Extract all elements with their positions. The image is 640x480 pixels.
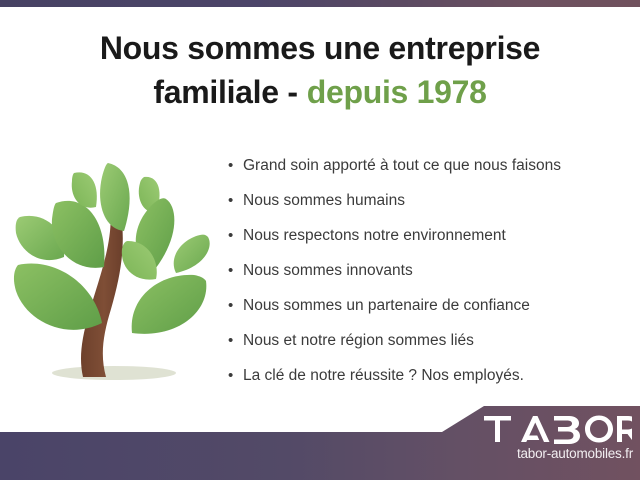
benefits-list: • Grand soin apporté à tout ce que nous … [228, 148, 628, 393]
page-title-line-1: Nous sommes une entreprise [40, 26, 600, 70]
family-tree-illustration [10, 145, 220, 390]
bullet-marker-icon: • [228, 148, 243, 183]
list-item-label: La clé de notre réussite ? Nos employés. [243, 358, 524, 393]
list-item-label: Grand soin apporté à tout ce que nous fa… [243, 148, 561, 183]
tree-shadow [52, 366, 176, 380]
slide-canvas: Nous sommes une entreprise familiale -de… [0, 0, 640, 480]
list-item: • Nous sommes humains [228, 183, 628, 218]
bullet-marker-icon: • [228, 358, 243, 393]
bullet-marker-icon: • [228, 218, 243, 253]
bullet-marker-icon: • [228, 183, 243, 218]
logo-tagline: tabor-automobiles.fr [484, 446, 634, 461]
list-item-label: Nous sommes innovants [243, 253, 413, 288]
tree-leaf [174, 235, 210, 273]
top-accent-bar [0, 0, 640, 7]
list-item: • Nous sommes un partenaire de confiance [228, 288, 628, 323]
footer-band: tabor-automobiles.fr [0, 400, 640, 480]
bullet-marker-icon: • [228, 253, 243, 288]
tree-leaf [14, 264, 102, 330]
list-item: • Nous respectons notre environnement [228, 218, 628, 253]
list-item-label: Nous sommes humains [243, 183, 405, 218]
list-item: • Nous et notre région sommes liés [228, 323, 628, 358]
page-title-line-2: familiale -depuis 1978 [40, 70, 600, 114]
page-title-accent: depuis 1978 [307, 74, 487, 110]
list-item: • Nous sommes innovants [228, 253, 628, 288]
tree-leaf [132, 275, 207, 334]
bullet-marker-icon: • [228, 288, 243, 323]
page-title-line-2-prefix: familiale - [153, 74, 297, 110]
list-item-label: Nous sommes un partenaire de confiance [243, 288, 530, 323]
bullet-marker-icon: • [228, 323, 243, 358]
company-logo[interactable]: tabor-automobiles.fr [484, 414, 634, 461]
page-title: Nous sommes une entreprise familiale -de… [40, 26, 600, 114]
list-item-label: Nous respectons notre environnement [243, 218, 506, 253]
tabor-wordmark-logo [484, 414, 632, 444]
tree-leaf [100, 163, 130, 231]
list-item: • Grand soin apporté à tout ce que nous … [228, 148, 628, 183]
list-item-label: Nous et notre région sommes liés [243, 323, 474, 358]
list-item: • La clé de notre réussite ? Nos employé… [228, 358, 628, 393]
